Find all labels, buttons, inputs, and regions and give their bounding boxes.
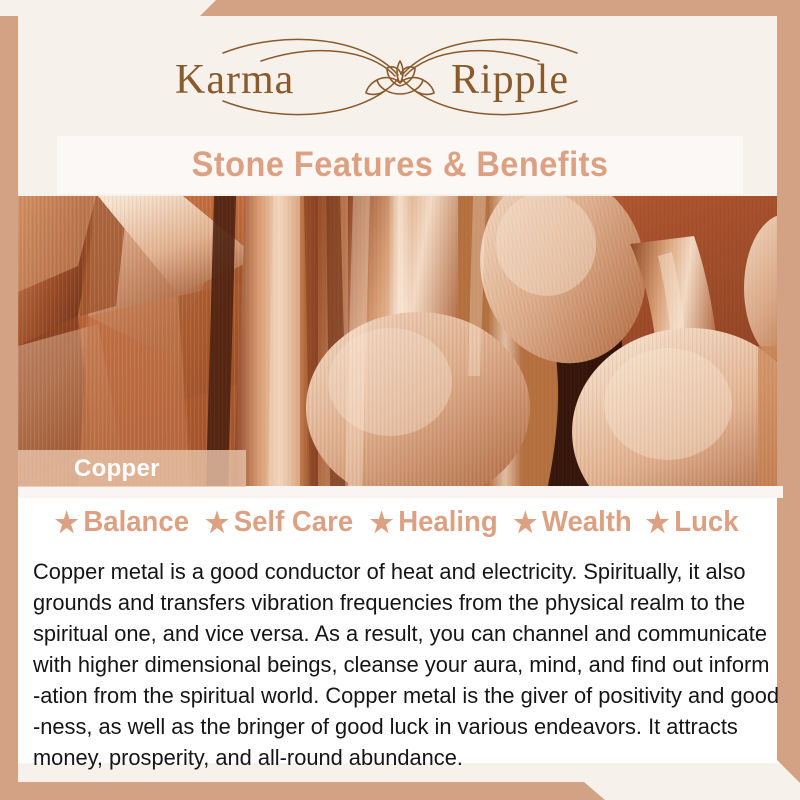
star-icon: ★ — [55, 509, 79, 537]
brand-logo: Karma Ripple — [0, 24, 800, 134]
logo-word-karma: Karma — [175, 57, 294, 103]
star-icon: ★ — [513, 509, 537, 537]
page-title: Stone Features & Benefits — [192, 145, 609, 185]
copper-photo-art — [18, 196, 783, 486]
feature-label: Self Care — [234, 506, 353, 539]
lotus-icon — [366, 61, 434, 94]
poster-canvas: Karma Ripple Stone Features & Benefits — [0, 0, 800, 800]
description-text: Copper metal is a good conductor of heat… — [33, 556, 751, 773]
star-icon: ★ — [370, 509, 394, 537]
feature-label: Wealth — [542, 506, 632, 539]
description-line: money, prosperity, and all-round abundan… — [33, 742, 751, 773]
star-icon: ★ — [205, 509, 229, 537]
logo-artwork: Karma Ripple — [165, 31, 635, 127]
title-band: Stone Features & Benefits — [57, 136, 743, 194]
feature-label: Healing — [398, 506, 498, 539]
frame-bottom-bar — [0, 782, 800, 800]
description-line: Copper metal is a good conductor of heat… — [33, 556, 751, 587]
logo-word-ripple: Ripple — [451, 57, 569, 103]
feature-label: Luck — [675, 506, 739, 539]
hero-image-copper-bars — [18, 196, 783, 486]
feature-item-healing: ★ Healing — [370, 506, 507, 539]
description-line: with higher dimensional beings, cleanse … — [33, 649, 751, 680]
feature-item-wealth: ★ Wealth — [513, 506, 640, 539]
feature-item-luck: ★ Luck — [646, 506, 747, 539]
hero-caption-label: Copper — [74, 455, 160, 483]
feature-item-balance: ★ Balance — [55, 506, 198, 539]
panel-top-fade — [18, 486, 783, 498]
description-line: -ness, as well as the bringer of good lu… — [33, 711, 751, 742]
description-line: grounds and transfers vibration frequenc… — [33, 587, 751, 618]
description-line: spiritual one, and vice versa. As a resu… — [33, 618, 751, 649]
description-line: -ation from the spiritual world. Copper … — [33, 680, 751, 711]
frame-top-bar — [0, 0, 800, 16]
feature-item-self-care: ★ Self Care — [205, 506, 362, 539]
hero-caption-bar: Copper — [18, 450, 246, 487]
features-list: ★ Balance ★ Self Care ★ Healing ★ Wealth… — [18, 506, 783, 539]
star-icon: ★ — [646, 509, 670, 537]
feature-label: Balance — [83, 506, 189, 539]
